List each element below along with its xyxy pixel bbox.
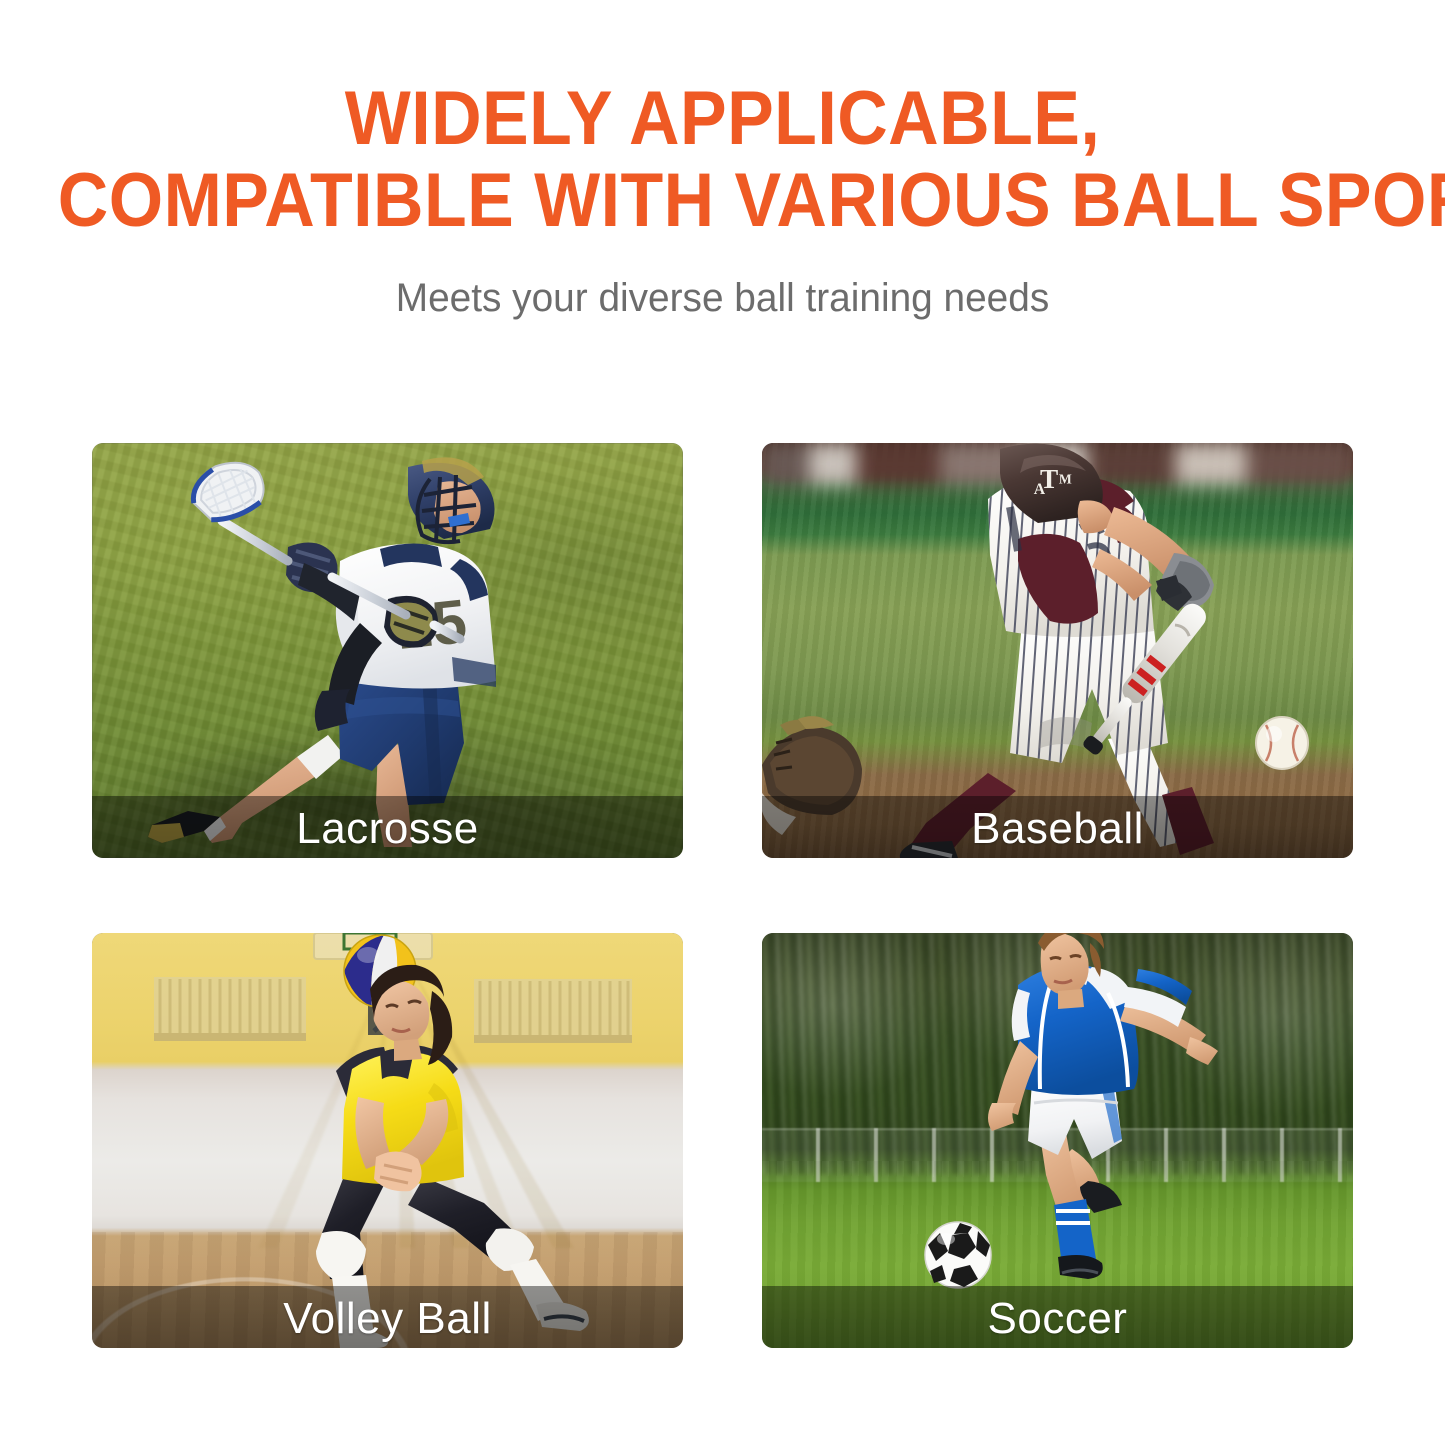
- page-title: WIDELY APPLICABLE, COMPATIBLE WITH VARIO…: [58, 78, 1387, 242]
- card-label-band: Volley Ball: [92, 1286, 683, 1348]
- page-subtitle: Meets your diverse ball training needs: [22, 275, 1424, 321]
- svg-text:M: M: [1059, 472, 1072, 487]
- card-label: Lacrosse: [296, 807, 479, 851]
- promo-banner: WIDELY APPLICABLE, COMPATIBLE WITH VARIO…: [0, 0, 1445, 1445]
- header: WIDELY APPLICABLE, COMPATIBLE WITH VARIO…: [0, 78, 1445, 321]
- sports-card-grid: 25: [92, 443, 1353, 1348]
- wall-radiator-right: [474, 979, 632, 1043]
- wall-radiator-left: [154, 977, 306, 1041]
- title-line-2: COMPATIBLE WITH VARIOUS BALL SPORTS: [58, 160, 1387, 242]
- card-label: Soccer: [988, 1297, 1128, 1341]
- sport-card-volleyball[interactable]: Volley Ball: [92, 933, 683, 1348]
- sport-card-baseball[interactable]: T A M: [762, 443, 1353, 858]
- svg-text:A: A: [1034, 481, 1046, 498]
- card-label-band: Baseball: [762, 796, 1353, 858]
- card-label-band: Lacrosse: [92, 796, 683, 858]
- card-label: Volley Ball: [283, 1297, 492, 1341]
- sport-card-soccer[interactable]: Soccer: [762, 933, 1353, 1348]
- baseball: [1256, 717, 1308, 769]
- card-label-band: Soccer: [762, 1286, 1353, 1348]
- sport-card-lacrosse[interactable]: 25: [92, 443, 683, 858]
- title-line-1: WIDELY APPLICABLE,: [58, 78, 1387, 160]
- card-label: Baseball: [971, 807, 1144, 851]
- soccer-ball: [925, 1222, 991, 1288]
